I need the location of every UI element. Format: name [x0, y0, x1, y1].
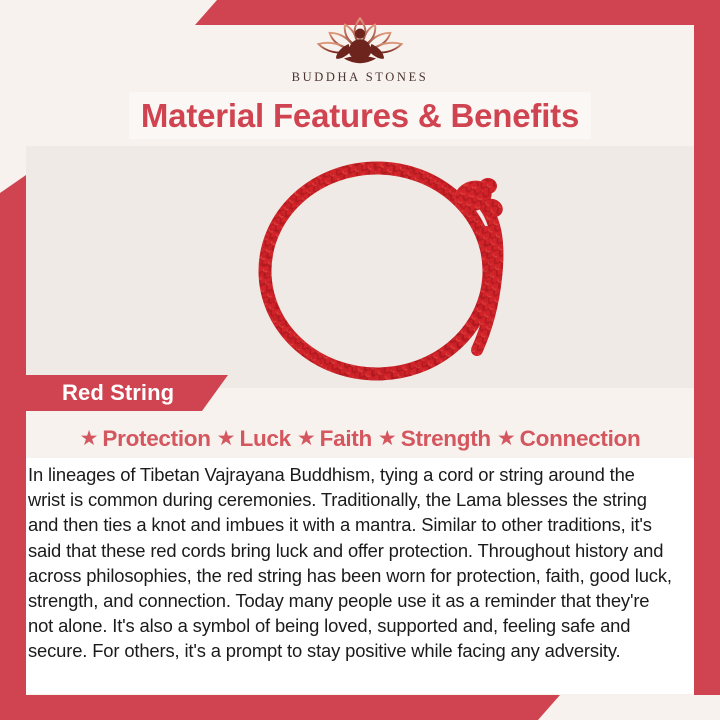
star-icon: ★ — [497, 428, 516, 449]
benefits-list: ★ Protection ★ Luck ★ Faith ★ Strength ★… — [26, 422, 694, 456]
red-string-bracelet-illustration — [234, 146, 534, 388]
star-icon: ★ — [297, 428, 316, 449]
star-icon: ★ — [80, 428, 99, 449]
lotus-meditation-icon — [312, 12, 408, 68]
benefit-label: Connection — [520, 426, 641, 452]
benefit-label: Faith — [320, 426, 372, 452]
benefit-item: ★ Connection — [497, 426, 641, 452]
product-info-poster: BUDDHA STONES Material Features & Benefi… — [0, 0, 720, 720]
brand-logo: BUDDHA STONES — [0, 12, 720, 85]
benefit-item: ★ Faith — [297, 426, 372, 452]
star-icon: ★ — [217, 428, 236, 449]
description-text: In lineages of Tibetan Vajrayana Buddhis… — [28, 462, 674, 664]
product-image — [26, 146, 694, 388]
benefit-label: Protection — [102, 426, 210, 452]
material-name: Red String — [62, 380, 174, 406]
title-banner: Material Features & Benefits — [129, 92, 591, 139]
benefit-item: ★ Protection — [80, 426, 211, 452]
benefit-item: ★ Luck — [217, 426, 291, 452]
benefit-label: Luck — [240, 426, 291, 452]
star-icon: ★ — [378, 428, 397, 449]
decorative-bar-bottom — [0, 695, 560, 720]
material-ribbon: Red String — [0, 375, 228, 411]
brand-name: BUDDHA STONES — [0, 70, 720, 85]
description-panel: In lineages of Tibetan Vajrayana Buddhis… — [26, 458, 694, 694]
page-title: Material Features & Benefits — [141, 97, 579, 135]
decorative-bar-left — [0, 175, 26, 695]
benefit-item: ★ Strength — [378, 426, 491, 452]
benefit-label: Strength — [401, 426, 491, 452]
decorative-bar-right — [694, 25, 720, 695]
